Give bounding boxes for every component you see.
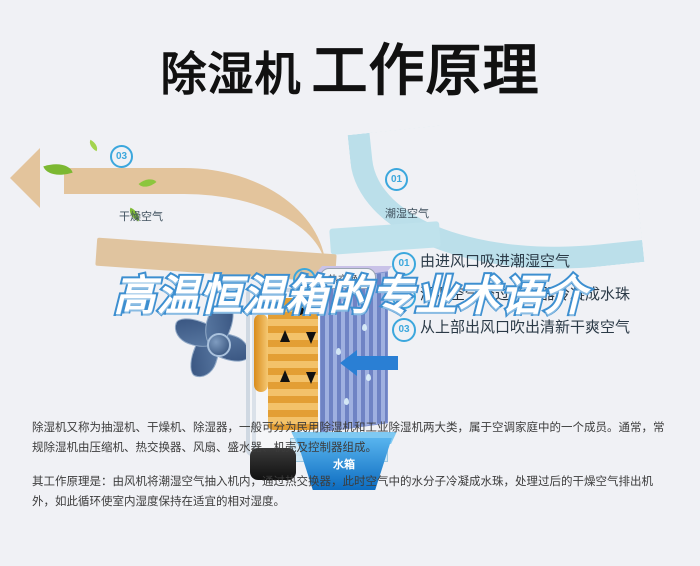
flow-arrow-up (280, 330, 290, 342)
flow-arrow-up (280, 370, 290, 382)
compressor-tube (254, 314, 268, 392)
intake-air-arrow (356, 356, 398, 370)
badge-humid-air: 01 (385, 168, 408, 191)
title-part-2: 工作原理 (312, 39, 540, 102)
humid-air-label: 潮湿空气 (385, 205, 429, 221)
page-title: 除湿机工作原理 (0, 26, 700, 107)
title-part-1: 除湿机 (161, 48, 302, 100)
badge-dry-air: 03 (110, 145, 133, 168)
article-body: 除湿机又称为抽湿机、干燥机、除湿器，一般可分为民用除湿机和工业除湿机两大类，属于… (32, 418, 672, 526)
paragraph-1: 除湿机又称为抽湿机、干燥机、除湿器，一般可分为民用除湿机和工业除湿机两大类，属于… (32, 418, 672, 458)
dry-air-arrowhead (10, 148, 40, 208)
leaf-icon (87, 140, 100, 152)
water-droplet (344, 398, 349, 405)
flow-arrow-down (306, 332, 316, 344)
water-droplet (362, 324, 367, 331)
water-droplet (366, 374, 371, 381)
dry-air-label: 干燥空气 (119, 208, 163, 224)
paragraph-2: 其工作原理是：由风机将潮湿空气抽入机内，通过热交换器，此时空气中的水分子冷凝成水… (32, 472, 672, 512)
infographic-page: 除湿机工作原理 (0, 0, 700, 566)
fan-hub (207, 333, 231, 357)
flow-arrow-down (306, 372, 316, 384)
watermark-text: 高温恒温箱的专业术语介 (0, 262, 700, 323)
